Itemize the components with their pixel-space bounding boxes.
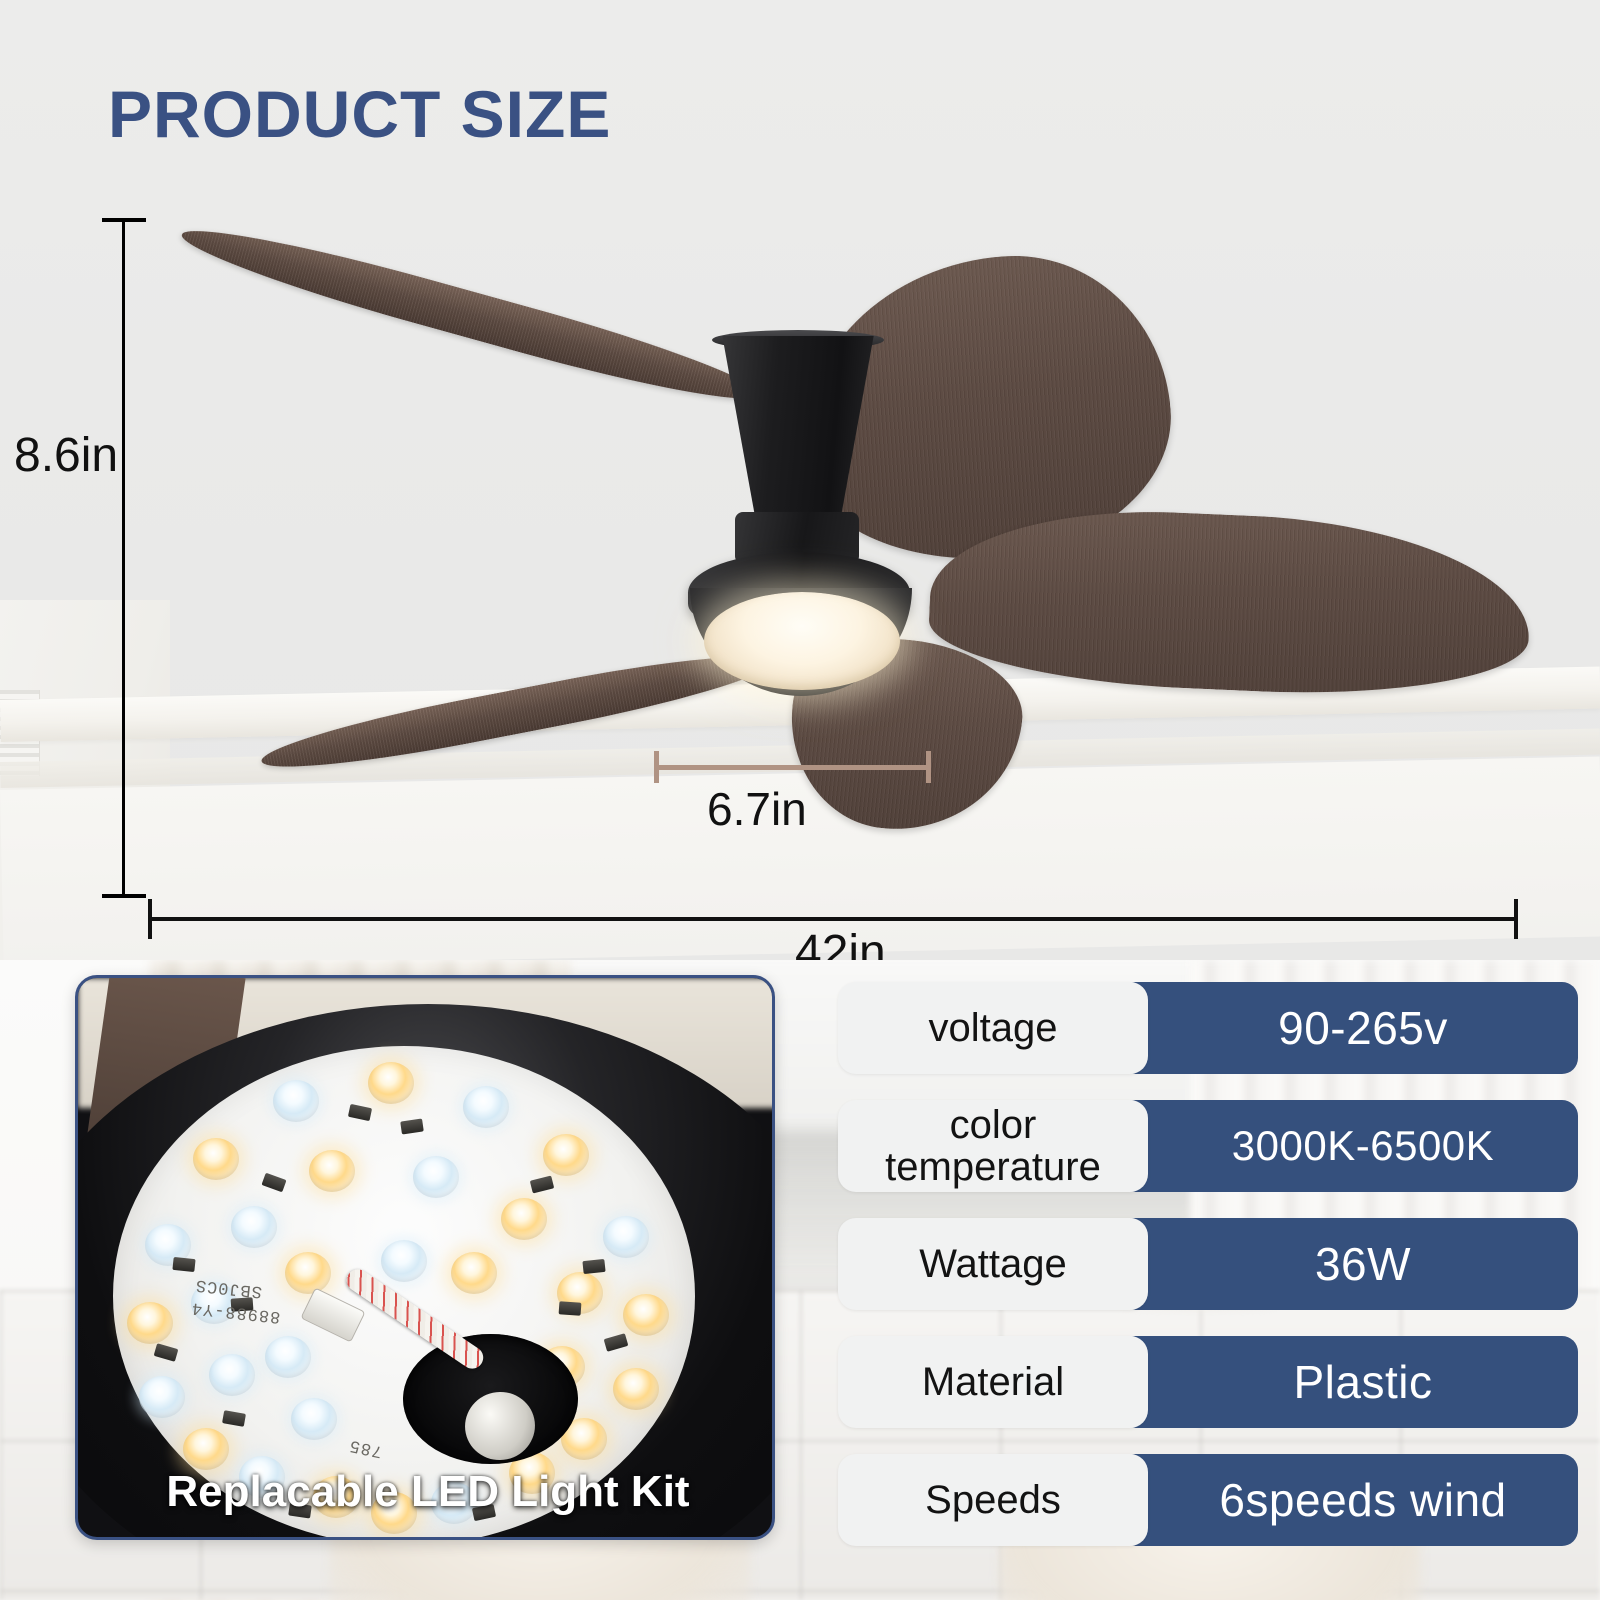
dimension-label-height: 8.6in — [14, 428, 118, 483]
led-kit-caption: Replacable LED Light Kit — [78, 1467, 775, 1517]
fan-blade-left-lower — [257, 640, 776, 782]
dimension-line-blade — [654, 765, 931, 770]
page-title: PRODUCT SIZE — [108, 76, 611, 152]
dimension-cap-top — [102, 218, 146, 222]
table-row: Material Plastic — [838, 1336, 1578, 1428]
dimension-cap-blade-right — [926, 751, 931, 783]
fan-blade-left-upper — [176, 212, 766, 417]
fan-blade-right-middle — [926, 502, 1533, 703]
dimension-label-width: 42in — [795, 925, 886, 960]
dimension-cap-width-right — [1514, 899, 1518, 939]
table-row: Speeds 6speeds wind — [838, 1454, 1578, 1546]
spec-label-material: Material — [838, 1336, 1148, 1428]
dimension-cap-width-left — [148, 899, 152, 939]
led-circuit-board: SBJ0CS 88988-Y4 785 — [113, 1046, 695, 1540]
light-kit-lens — [704, 592, 900, 690]
dimension-line-height — [122, 218, 125, 898]
table-row: voltage 90-265v — [838, 982, 1578, 1074]
dimension-cap-blade-left — [654, 751, 659, 783]
dimension-cap-bottom — [102, 894, 146, 898]
pcb-marking-3: 785 — [347, 1435, 384, 1461]
led-light-kit-card: SBJ0CS 88988-Y4 785 Replacable LED Light… — [75, 975, 775, 1540]
product-size-scene: PRODUCT SIZE 8.6in 6.7in 42in — [0, 0, 1600, 960]
spec-label-speeds: Speeds — [838, 1454, 1148, 1546]
spec-value-voltage: 90-265v — [1120, 982, 1578, 1074]
spec-label-line2: temperature — [885, 1145, 1101, 1189]
spec-label-color-temperature: color temperature — [838, 1100, 1148, 1192]
spec-value-wattage: 36W — [1120, 1218, 1578, 1310]
spec-label-voltage: voltage — [838, 982, 1148, 1074]
spec-value-color-temperature: 3000K-6500K — [1120, 1100, 1578, 1192]
spec-label-line1: color — [950, 1103, 1037, 1147]
dimension-label-blade: 6.7in — [707, 782, 807, 836]
led-wire-connector — [300, 1287, 365, 1342]
spec-value-speeds: 6speeds wind — [1120, 1454, 1578, 1546]
specs-section: SBJ0CS 88988-Y4 785 Replacable LED Light… — [0, 960, 1600, 1600]
spec-label-wattage: Wattage — [838, 1218, 1148, 1310]
table-row: color temperature 3000K-6500K — [838, 1100, 1578, 1192]
table-row: Wattage 36W — [838, 1218, 1578, 1310]
dimension-line-width — [148, 917, 1518, 921]
specification-table: voltage 90-265v color temperature 3000K-… — [838, 982, 1578, 1562]
spec-value-material: Plastic — [1120, 1336, 1578, 1428]
